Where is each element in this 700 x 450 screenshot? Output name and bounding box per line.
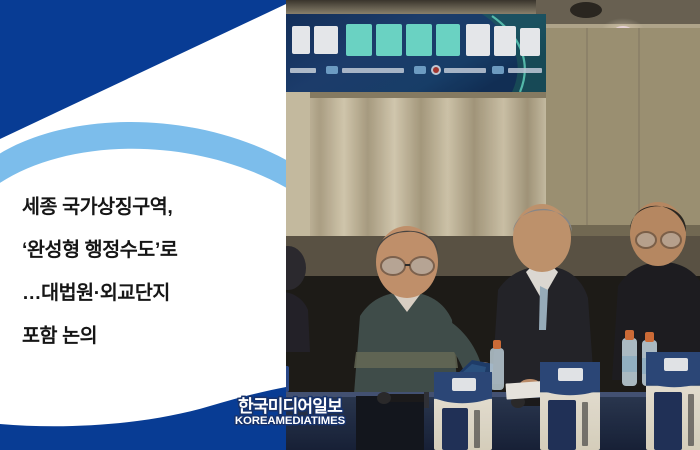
photo-color-grade bbox=[286, 0, 700, 450]
headline-line-2: ‘완성형 행정수도’로 bbox=[22, 229, 272, 272]
conference-photo bbox=[286, 0, 700, 450]
news-card: 세종 국가상징구역, ‘완성형 행정수도’로 …대법원·외교단지 포함 논의 bbox=[0, 0, 700, 450]
page-title: 세종 국가상징구역, ‘완성형 행정수도’로 …대법원·외교단지 포함 논의 bbox=[22, 186, 272, 358]
watermark-logo: 한국미디어일보 KOREAMEDIATIMES bbox=[231, 398, 349, 438]
watermark-korean-text: 한국미디어일보 bbox=[231, 398, 349, 415]
watermark-english-text: KOREAMEDIATIMES bbox=[231, 416, 349, 427]
left-graphic-panel: 세종 국가상징구역, ‘완성형 행정수도’로 …대법원·외교단지 포함 논의 bbox=[0, 0, 286, 450]
headline-line-1: 세종 국가상징구역, bbox=[22, 186, 272, 229]
headline-line-4: 포함 논의 bbox=[22, 315, 272, 358]
photo-scene bbox=[286, 0, 700, 450]
headline-line-3: …대법원·외교단지 bbox=[22, 272, 272, 315]
